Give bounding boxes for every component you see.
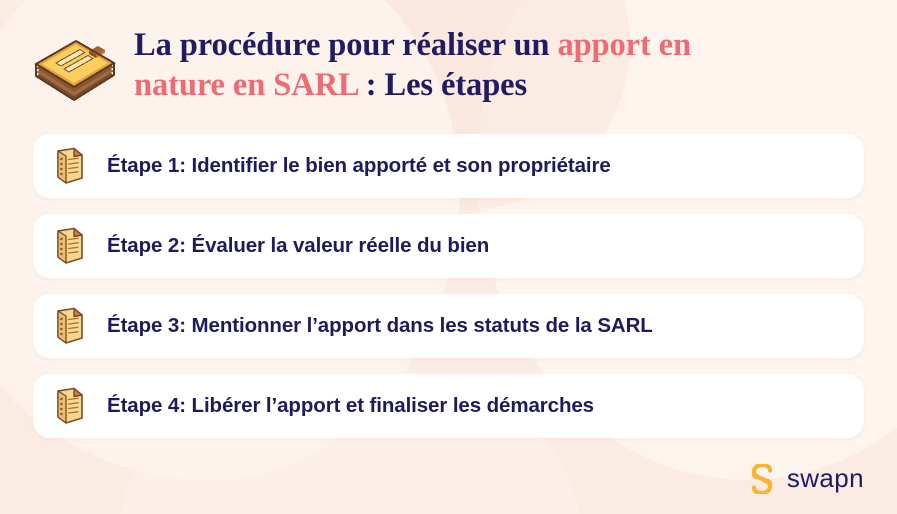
title-line1-prefix: La procédure pour réaliser un (134, 27, 557, 63)
document-icon (55, 147, 85, 185)
steps-list: Étape 1: Identifier le bien apporté et s… (33, 134, 864, 454)
title-block: La procédure pour réaliser un apport en … (134, 24, 691, 106)
step-label: Étape 3: Mentionner l’apport dans les st… (107, 314, 653, 338)
title-line2-highlight: nature en SARL (134, 67, 358, 103)
brand-logo[interactable]: swapn (748, 463, 864, 494)
title-line2-suffix: : Les étapes (358, 67, 527, 103)
infographic-stage: La procédure pour réaliser un apport en … (0, 0, 897, 514)
step-card-1[interactable]: Étape 1: Identifier le bien apporté et s… (33, 134, 864, 198)
step-label: Étape 4: Libérer l’apport et finaliser l… (107, 394, 594, 418)
header: La procédure pour réaliser un apport en … (28, 24, 867, 106)
step-label: Étape 1: Identifier le bien apporté et s… (107, 154, 611, 178)
step-label: Étape 2: Évaluer la valeur réelle du bie… (107, 234, 489, 258)
brand-logo-text: swapn (787, 463, 864, 494)
step-card-3[interactable]: Étape 3: Mentionner l’apport dans les st… (33, 294, 864, 358)
step-card-4[interactable]: Étape 4: Libérer l’apport et finaliser l… (33, 374, 864, 438)
document-icon (55, 307, 85, 345)
step-card-2[interactable]: Étape 2: Évaluer la valeur réelle du bie… (33, 214, 864, 278)
page-title: La procédure pour réaliser un apport en … (134, 26, 691, 106)
clipboard-icon (28, 30, 120, 106)
swapn-s-mark-icon (748, 464, 776, 494)
document-icon (55, 227, 85, 265)
document-icon (55, 387, 85, 425)
title-line1-highlight: apport en (557, 27, 691, 63)
